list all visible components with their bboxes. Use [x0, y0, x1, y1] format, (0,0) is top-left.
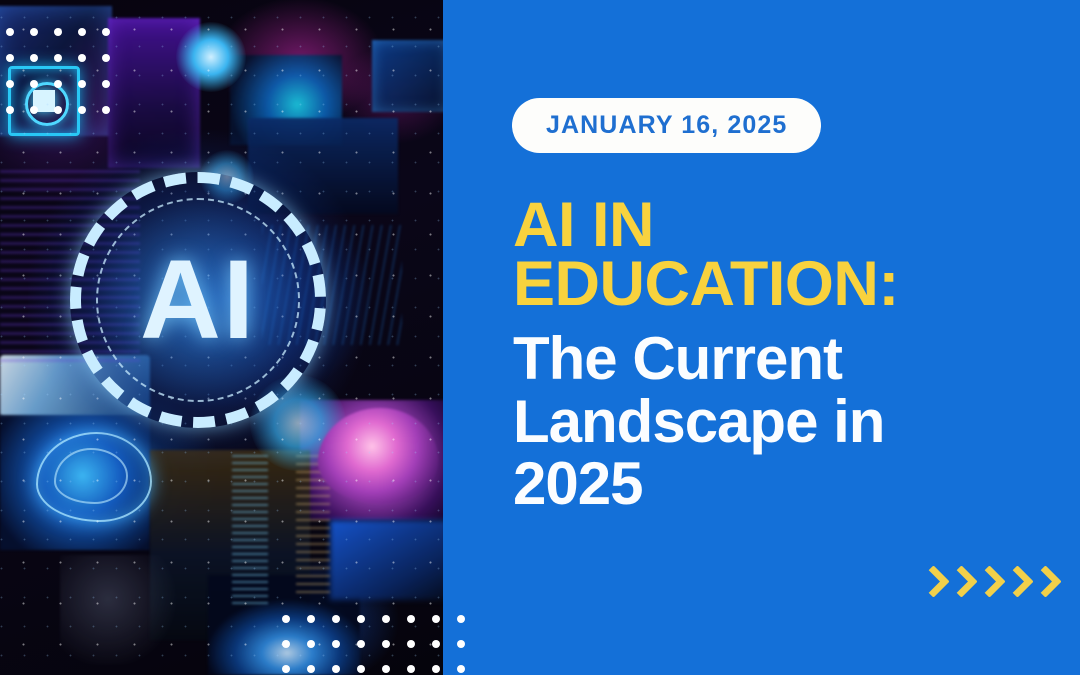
dot: [30, 54, 38, 62]
dot: [282, 665, 290, 673]
dot: [6, 28, 14, 36]
dot: [30, 106, 38, 114]
collage-panel: AI: [0, 0, 443, 675]
dot: [432, 665, 440, 673]
chevron-right-icon: [919, 562, 945, 604]
dot: [78, 54, 86, 62]
dot: [307, 665, 315, 673]
dot: [307, 615, 315, 623]
dot: [102, 28, 110, 36]
dot: [382, 665, 390, 673]
headline-subtitle-line-2: Landscape in: [513, 391, 1053, 453]
content-panel: JANUARY 16, 2025 AI IN EDUCATION: The Cu…: [443, 0, 1080, 675]
ai-education-banner: AI: [0, 0, 1080, 675]
dot: [78, 28, 86, 36]
chevron-row: [919, 562, 1057, 604]
headline-emphasis-line-1: AI IN: [513, 196, 1053, 255]
headline-subtitle-line-3: 2025: [513, 453, 1053, 515]
dot: [357, 615, 365, 623]
dot: [332, 665, 340, 673]
dot: [102, 54, 110, 62]
dot: [307, 640, 315, 648]
chevron-right-icon: [975, 562, 1001, 604]
dot: [382, 640, 390, 648]
ai-emblem-label: AI: [70, 172, 326, 428]
dot: [432, 615, 440, 623]
dot: [407, 615, 415, 623]
date-badge: JANUARY 16, 2025: [512, 98, 821, 153]
dot: [54, 80, 62, 88]
dot: [78, 80, 86, 88]
dot: [457, 615, 465, 623]
ai-emblem: AI: [70, 172, 326, 428]
dot: [382, 615, 390, 623]
dot: [282, 615, 290, 623]
headline-emphasis-line-2: EDUCATION:: [513, 255, 1053, 314]
dot: [30, 80, 38, 88]
dot: [6, 54, 14, 62]
dot: [282, 640, 290, 648]
dot: [432, 640, 440, 648]
dot: [332, 640, 340, 648]
dot: [332, 615, 340, 623]
chevron-right-icon: [1031, 562, 1057, 604]
dot: [54, 106, 62, 114]
dot: [6, 106, 14, 114]
chevron-right-icon: [947, 562, 973, 604]
dot: [102, 80, 110, 88]
dot: [6, 80, 14, 88]
chevron-right-icon: [1003, 562, 1029, 604]
dot: [357, 640, 365, 648]
dot: [407, 665, 415, 673]
dot: [357, 665, 365, 673]
date-badge-label: JANUARY 16, 2025: [546, 111, 787, 140]
dot: [30, 28, 38, 36]
dot: [54, 54, 62, 62]
dot: [54, 28, 62, 36]
dot-grid-bottom: [282, 615, 482, 675]
dot-grid-top-left: [6, 28, 126, 132]
headline-subtitle-line-1: The Current: [513, 328, 1053, 390]
dot: [102, 106, 110, 114]
headline-block: AI IN EDUCATION: The Current Landscape i…: [513, 196, 1053, 516]
dot: [78, 106, 86, 114]
dot: [407, 640, 415, 648]
dot: [457, 640, 465, 648]
dot: [457, 665, 465, 673]
